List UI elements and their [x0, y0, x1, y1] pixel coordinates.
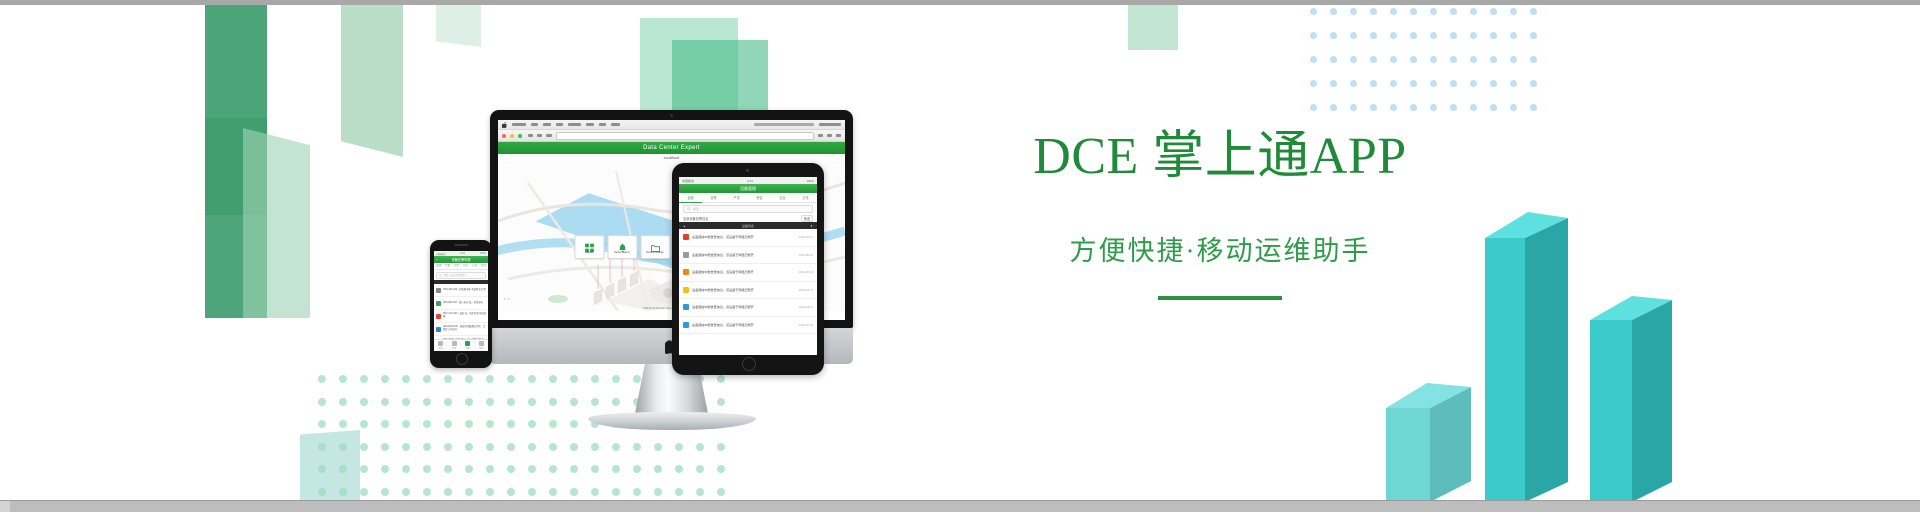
decor-dot — [381, 443, 389, 451]
decor-dot — [654, 465, 662, 473]
map-scale-label: 1 / 1 — [504, 297, 510, 301]
sidebar-icon[interactable] — [546, 134, 552, 137]
toolbar-button-device-groups[interactable]: Device Groups — [640, 235, 670, 259]
decor-dot — [591, 443, 599, 451]
browser-toolbar[interactable] — [498, 130, 845, 142]
decor-dot — [402, 398, 410, 406]
decor-dot — [633, 443, 641, 451]
decor-dot — [1370, 56, 1377, 63]
phone-app-title: 设备告警列表 — [451, 257, 470, 262]
list-item[interactable]: SENSOR-D05 - 湿度传感器通信异常，已恢复 正常运行 — [434, 323, 488, 336]
close-icon[interactable] — [502, 134, 506, 138]
page-title: DCE 掌上通APP — [1010, 128, 1430, 185]
decor-dot — [696, 488, 704, 496]
decor-dot — [486, 488, 494, 496]
table-row[interactable]: 设备通信中断告警信息，该设备于网络已断开 2019-08-11 — [679, 282, 817, 300]
tablet-list-header[interactable]: ▲ 设备列表 ▼ — [679, 222, 817, 229]
decor-dot — [381, 420, 389, 428]
tab-warning[interactable]: 警告 — [748, 195, 771, 200]
decor-dot — [570, 443, 578, 451]
decor-dot — [528, 465, 536, 473]
decor-dot — [444, 443, 452, 451]
decor-dot — [444, 488, 452, 496]
decor-dot — [1490, 104, 1497, 111]
phone-speaker-icon — [454, 244, 468, 246]
tablet-filter-button[interactable]: 筛选 — [801, 215, 813, 222]
decor-dot — [1450, 56, 1457, 63]
status-carrier: 中国移动 — [682, 179, 694, 183]
tablet-filter-label: 全部设备告警信息 — [683, 216, 709, 221]
decor-dot — [339, 375, 347, 383]
alarm-bell-icon — [617, 240, 627, 250]
decor-dot — [423, 488, 431, 496]
alarm-text: 设备通信中断告警信息，该设备于网络已断开 — [692, 305, 796, 309]
decor-dot — [1350, 80, 1357, 87]
decor-dot — [1310, 32, 1317, 39]
decor-dot — [1330, 80, 1337, 87]
decor-dot — [654, 443, 662, 451]
tab-all[interactable]: 全部 — [434, 263, 443, 269]
decor-dot — [1470, 80, 1477, 87]
list-item[interactable]: UPS-B02-007 - 输入电压 低，电池放电 — [434, 297, 488, 310]
decor-dot — [360, 465, 368, 473]
decor-dot — [1410, 8, 1417, 15]
decor-dot — [612, 443, 620, 451]
decor-dot — [1390, 56, 1397, 63]
status-badge — [683, 287, 689, 293]
decor-dot — [549, 488, 557, 496]
tablet-search-input[interactable]: 搜索 — [683, 205, 813, 213]
table-row[interactable]: 设备通信中断告警信息，该设备于网络已断开 2019-08-12 — [679, 247, 817, 265]
user-icon — [479, 341, 484, 346]
tab-critical[interactable]: 严重 — [725, 195, 748, 200]
tab-all[interactable]: 全部 — [679, 193, 702, 203]
decor-dot — [339, 443, 347, 451]
decor-dot — [507, 443, 515, 451]
decor-dot — [339, 420, 347, 428]
menu-item-edit[interactable] — [543, 123, 551, 126]
decor-dot — [1310, 56, 1317, 63]
decor-dot — [1330, 8, 1337, 15]
decor-dot — [675, 443, 683, 451]
tablet-status-bar: 中国移动 9:41 100% — [679, 177, 817, 184]
decor-rect-3 — [243, 128, 310, 318]
menu-item-help[interactable] — [611, 123, 620, 126]
decor-dot — [1430, 104, 1437, 111]
add-tab-icon[interactable] — [836, 134, 841, 137]
alarm-time: 2019-08-12 — [799, 235, 813, 239]
decor-dot — [1450, 32, 1457, 39]
alarm-text: 设备通信中断告警信息，该设备于网络已断开 — [692, 253, 796, 257]
decor-dot — [318, 375, 326, 383]
status-icon-group[interactable] — [754, 123, 814, 126]
hero-text: DCE 掌上通APP 方便快捷·移动运维助手 — [1010, 128, 1430, 300]
title-divider — [1158, 296, 1282, 300]
menu-item-view[interactable] — [556, 123, 563, 126]
home-icon — [438, 341, 443, 346]
toolbar-button-active-alarms[interactable]: Active Alarms — [607, 235, 637, 259]
phone-app-bar: ‹ 设备告警列表 — [434, 256, 488, 263]
decor-square-3 — [1128, 0, 1178, 50]
decor-dot — [717, 443, 725, 451]
status-carrier: 中国移动 — [436, 252, 446, 256]
decor-dot — [402, 420, 410, 428]
decor-dot — [507, 488, 515, 496]
tablet-tabs[interactable]: 全部 告警 严重 警告 信息 正常 — [679, 193, 817, 203]
decor-dot — [633, 488, 641, 496]
alarm-text: 设备通信中断告警信息，该设备于网络已断开 — [692, 288, 796, 292]
decor-dot — [612, 465, 620, 473]
decor-dot — [318, 420, 326, 428]
nav-label: 我的 — [479, 347, 483, 350]
decor-dot — [444, 465, 452, 473]
chevron-left-icon[interactable]: ‹ — [436, 258, 437, 262]
list-item-text: PDU-C01-003 - 温度 高，机房空调 系统故障 — [443, 313, 486, 319]
decor-dot — [591, 465, 599, 473]
decor-dot — [1490, 56, 1497, 63]
phone-search-row[interactable]: 请输入设备名称搜索 — [434, 270, 488, 280]
decor-dot — [1390, 80, 1397, 87]
status-time: 9:41 — [460, 252, 465, 255]
nav-label: 设备 — [466, 347, 470, 350]
hero-banner: Data Center Expert localhost — [0, 0, 1920, 512]
status-badge — [436, 314, 441, 319]
decor-dot — [381, 375, 389, 383]
status-badge — [436, 327, 441, 332]
nav-item-device[interactable]: 设备 — [461, 340, 475, 351]
phone-home-button[interactable] — [456, 353, 468, 365]
decor-dot — [318, 443, 326, 451]
decor-dot — [486, 443, 494, 451]
tabs-icon[interactable] — [827, 134, 832, 137]
decor-dot — [696, 465, 704, 473]
status-badge — [683, 304, 689, 310]
list-item-text: UPS-A01-002 - 机房配电室 系统断电 告警 — [443, 289, 486, 292]
status-badge — [683, 269, 689, 275]
decor-dot — [1390, 104, 1397, 111]
status-badge — [436, 301, 441, 306]
status-time: 9:41 — [747, 179, 753, 183]
dot-grid-top-right — [1310, 8, 1550, 128]
nav-item-home[interactable]: 首页 — [434, 340, 448, 351]
decor-dot — [1470, 56, 1477, 63]
decor-dot — [1370, 80, 1377, 87]
bar-left — [1386, 383, 1471, 502]
bell-icon — [452, 341, 457, 346]
decor-dot — [465, 465, 473, 473]
decor-dot — [1390, 32, 1397, 39]
decor-dot — [1390, 8, 1397, 15]
decor-dot — [1430, 80, 1437, 87]
tablet-home-button[interactable] — [742, 357, 756, 371]
decor-dot — [1350, 32, 1357, 39]
decor-dot — [402, 375, 410, 383]
nav-item-alarm[interactable]: 告警 — [448, 340, 462, 351]
table-row[interactable]: 设备通信中断告警信息，该设备于网络已断开 2019-08-12 — [679, 264, 817, 282]
device-icon — [465, 341, 470, 346]
decor-dot — [675, 488, 683, 496]
app-header: Data Center Expert — [498, 142, 845, 154]
decor-dot — [507, 465, 515, 473]
alarm-time: 2019-08-10 — [799, 323, 813, 327]
decor-dot — [381, 398, 389, 406]
decor-dot — [549, 443, 557, 451]
decor-dot — [717, 465, 725, 473]
toolbar-button-floors[interactable]: Floors — [574, 235, 604, 259]
decor-dot — [381, 488, 389, 496]
mac-menu-bar[interactable] — [498, 120, 845, 130]
nav-label: 告警 — [452, 347, 456, 350]
decor-dot — [1510, 56, 1517, 63]
table-row[interactable]: 设备通信中断告警信息，该设备于网络已断开 2019-08-12 — [679, 229, 817, 247]
table-row[interactable]: 设备通信中断告警信息，该设备于网络已断开 2019-08-10 — [679, 317, 817, 335]
tablet-screen: 中国移动 9:41 100% 设备管理 全部 告警 严重 警告 信息 正常 — [679, 177, 817, 355]
decor-dot — [1330, 56, 1337, 63]
decor-dot — [402, 465, 410, 473]
decor-dot — [1510, 104, 1517, 111]
back-icon[interactable] — [528, 134, 533, 137]
decor-dot — [318, 398, 326, 406]
toolbar-label: Floors — [585, 251, 592, 254]
list-item[interactable]: UPS-A01-002 - 机房配电室 系统断电 告警 — [434, 284, 488, 297]
decor-dot — [465, 488, 473, 496]
search-icon — [687, 207, 691, 211]
status-battery: 100% — [806, 179, 814, 183]
decor-dot — [1450, 104, 1457, 111]
toolbar-label: Device Groups — [646, 251, 663, 254]
decor-dot — [1410, 80, 1417, 87]
scrollbar-thumb[interactable] — [0, 501, 10, 512]
decor-dot — [1430, 56, 1437, 63]
bar-right — [1590, 296, 1672, 502]
grid-icon — [584, 240, 594, 250]
decor-rect-5 — [436, 0, 481, 47]
decor-dot — [318, 488, 326, 496]
decor-dot — [654, 488, 662, 496]
decor-dot — [1490, 8, 1497, 15]
decor-dot — [1430, 8, 1437, 15]
list-item-text: SENSOR-D05 - 湿度传感器通信异常，已恢复 正常运行 — [443, 326, 486, 332]
decor-dot — [528, 488, 536, 496]
decor-dot — [1490, 80, 1497, 87]
decor-dot — [339, 398, 347, 406]
phone-search-input[interactable]: 请输入设备名称搜索 — [436, 272, 486, 279]
decor-dot — [1510, 80, 1517, 87]
tab-normal[interactable]: 正常 — [470, 263, 479, 269]
decor-dot — [1310, 104, 1317, 111]
decor-dot — [360, 488, 368, 496]
decor-dot — [1530, 32, 1537, 39]
menu-item-window[interactable] — [599, 123, 606, 126]
share-icon[interactable] — [818, 134, 823, 137]
decor-dot — [402, 443, 410, 451]
menu-item-bookmarks[interactable] — [586, 123, 594, 126]
decor-dot — [1350, 8, 1357, 15]
decor-dot — [423, 465, 431, 473]
tab-critical[interactable]: 严重 — [443, 263, 452, 269]
tab-normal[interactable]: 正常 — [794, 195, 817, 200]
clock-status — [819, 123, 841, 126]
decor-dot — [1510, 8, 1517, 15]
decor-dot — [633, 465, 641, 473]
status-badge — [683, 234, 689, 240]
phone-search-placeholder: 请输入设备名称搜索 — [444, 273, 466, 277]
decor-dot — [1470, 104, 1477, 111]
alarm-time: 2019-08-12 — [799, 270, 813, 274]
list-item-text: UPS-B02-007 - 输入电压 低，电池放电 — [443, 302, 486, 305]
decor-dot — [1370, 32, 1377, 39]
decor-dot — [1530, 80, 1537, 87]
decor-dot — [696, 443, 704, 451]
nav-item-profile[interactable]: 我的 — [475, 340, 489, 351]
decor-dot — [339, 465, 347, 473]
alarm-time: 2019-08-11 — [799, 305, 813, 309]
decor-dot — [570, 465, 578, 473]
decor-dot — [1370, 104, 1377, 111]
decor-dot — [528, 443, 536, 451]
nav-label: 首页 — [439, 347, 443, 350]
minimize-icon[interactable] — [510, 134, 514, 138]
decor-dot — [318, 465, 326, 473]
device-mockups: Data Center Expert localhost — [430, 85, 950, 425]
decor-dot — [717, 488, 725, 496]
decor-dot — [1410, 56, 1417, 63]
decor-dot — [1470, 8, 1477, 15]
phone-screen: 中国移动 9:41 100% ‹ 设备告警列表 全部 严重 告警 信息 正常 其… — [434, 251, 488, 351]
address-bar[interactable] — [556, 132, 814, 140]
decor-dot — [360, 375, 368, 383]
phone-bottom-nav[interactable]: 首页 告警 设备 我的 — [434, 339, 488, 351]
status-battery: 100% — [480, 252, 486, 255]
window-top-edge — [0, 0, 1920, 5]
list-header-title: 设备列表 — [742, 224, 754, 228]
decor-dot — [549, 465, 557, 473]
tab-other[interactable]: 其他 — [479, 263, 488, 269]
decor-dot — [360, 398, 368, 406]
apple-menu-icon[interactable] — [502, 122, 507, 128]
decor-dot — [486, 465, 494, 473]
webcam-icon — [670, 114, 673, 117]
alarm-text: 设备通信中断告警信息，该设备于网络已断开 — [692, 323, 796, 327]
tablet-camera-icon — [746, 169, 749, 172]
decor-dot — [570, 488, 578, 496]
decor-rect-4 — [341, 0, 403, 157]
maximize-icon[interactable] — [518, 134, 522, 138]
status-badge — [683, 252, 689, 258]
alarm-text: 设备通信中断告警信息，该设备于网络已断开 — [692, 235, 796, 239]
tablet-device: 中国移动 9:41 100% 设备管理 全部 告警 严重 警告 信息 正常 — [672, 163, 824, 375]
decor-dot — [1430, 32, 1437, 39]
forward-icon[interactable] — [537, 134, 542, 137]
menu-item-file[interactable] — [531, 123, 538, 126]
decor-dot — [1410, 104, 1417, 111]
list-sort-asc-icon[interactable]: ▲ — [683, 224, 686, 228]
decor-dot — [1470, 32, 1477, 39]
phone-device: 中国移动 9:41 100% ‹ 设备告警列表 全部 严重 告警 信息 正常 其… — [430, 240, 492, 368]
decor-dot — [402, 488, 410, 496]
decor-dot — [1330, 104, 1337, 111]
decor-dot — [1350, 56, 1357, 63]
decor-dot — [612, 488, 620, 496]
decor-dot — [423, 443, 431, 451]
alarm-text: 设备通信中断告警信息，该设备于网络已断开 — [692, 270, 796, 274]
toolbar-label: Active Alarms — [614, 251, 630, 254]
decor-dot — [1490, 32, 1497, 39]
decor-dot — [675, 465, 683, 473]
tab-info[interactable]: 信息 — [461, 263, 470, 269]
alarm-time: 2019-08-11 — [799, 288, 813, 292]
decor-dot — [339, 488, 347, 496]
decor-dot — [360, 420, 368, 428]
decor-dot — [381, 465, 389, 473]
page-subtitle: 方便快捷·移动运维助手 — [1010, 229, 1430, 268]
menu-item-safari[interactable] — [512, 123, 526, 126]
decor-dot — [1510, 32, 1517, 39]
phone-tabs[interactable]: 全部 严重 告警 信息 正常 其他 — [434, 263, 488, 270]
decor-dot — [1450, 8, 1457, 15]
tab-alarm[interactable]: 告警 — [702, 195, 725, 200]
tab-info[interactable]: 信息 — [771, 195, 794, 200]
list-sort-desc-icon[interactable]: ▼ — [810, 224, 813, 228]
status-badge — [436, 288, 441, 293]
decor-dot — [591, 488, 599, 496]
decor-dot — [1530, 8, 1537, 15]
alarm-time: 2019-08-12 — [799, 253, 813, 257]
tab-alarm[interactable]: 告警 — [452, 263, 461, 269]
tablet-search-placeholder: 搜索 — [693, 207, 699, 211]
decor-dot — [1310, 8, 1317, 15]
decor-dot — [360, 443, 368, 451]
decor-dot — [1450, 80, 1457, 87]
decor-dot — [1370, 8, 1377, 15]
decor-dot — [1410, 32, 1417, 39]
status-badge — [683, 322, 689, 328]
tablet-search-row[interactable]: 搜索 — [679, 203, 817, 215]
decor-dot — [1310, 80, 1317, 87]
bar-center — [1485, 212, 1568, 502]
horizontal-scrollbar[interactable] — [0, 500, 1920, 512]
decor-dot — [465, 443, 473, 451]
decor-dot — [1330, 32, 1337, 39]
decor-dot — [1530, 104, 1537, 111]
table-row[interactable]: 设备通信中断告警信息，该设备于网络已断开 2019-08-11 — [679, 299, 817, 317]
list-item[interactable]: PDU-C01-003 - 温度 高，机房空调 系统故障 — [434, 310, 488, 323]
folder-icon — [650, 240, 660, 250]
tablet-filter-row[interactable]: 全部设备告警信息 筛选 — [679, 215, 817, 222]
search-icon — [439, 274, 442, 277]
menu-item-history[interactable] — [568, 123, 581, 126]
decor-dot — [1530, 56, 1537, 63]
decor-dot — [1350, 104, 1357, 111]
app-subheader: localhost — [498, 154, 845, 161]
